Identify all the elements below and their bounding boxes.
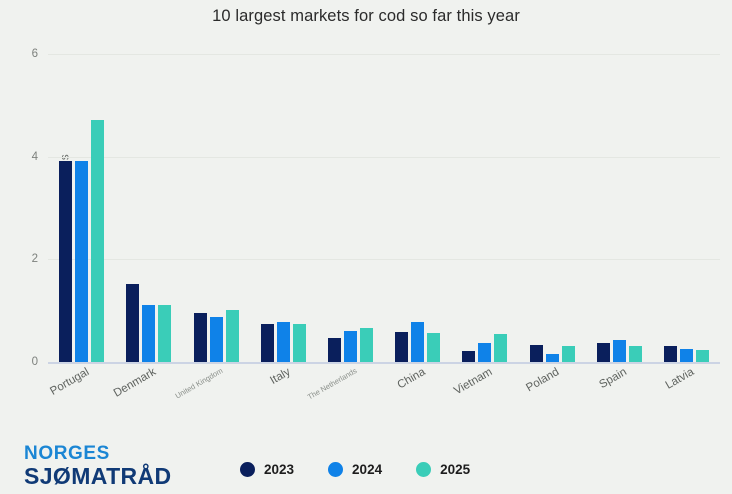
y-axis-tick-label: 6 [32, 48, 38, 60]
bar[interactable] [395, 332, 408, 362]
legend-label: 2025 [440, 462, 470, 477]
bar[interactable] [427, 333, 440, 362]
bar-series-layer [48, 54, 720, 362]
bar[interactable] [293, 324, 306, 363]
bar[interactable] [696, 350, 709, 362]
bar[interactable] [597, 343, 610, 363]
bar[interactable] [344, 331, 357, 362]
bar-cluster [586, 54, 653, 362]
x-axis-label-cell: China [384, 362, 451, 432]
x-axis-label-cell: Poland [518, 362, 585, 432]
x-axis-label-cell: Denmark [115, 362, 182, 432]
bar[interactable] [226, 310, 239, 362]
bar-cluster [48, 54, 115, 362]
bar[interactable] [277, 322, 290, 362]
brand-logo: NORGES SJØMATRÅD [24, 444, 172, 488]
x-axis-label-cell: Italy [250, 362, 317, 432]
bar-cluster [451, 54, 518, 362]
legend-item[interactable]: 2023 [240, 462, 294, 477]
legend-label: 2023 [264, 462, 294, 477]
legend-item[interactable]: 2024 [328, 462, 382, 477]
legend-swatch-circle-icon [416, 462, 431, 477]
bar[interactable] [261, 324, 274, 362]
bar[interactable] [59, 161, 72, 362]
bar[interactable] [613, 340, 626, 362]
bar-cluster [384, 54, 451, 362]
bar[interactable] [328, 338, 341, 362]
bar[interactable] [546, 354, 559, 362]
bar[interactable] [91, 120, 104, 362]
bar-cluster [115, 54, 182, 362]
x-axis-label-cell: The Netherlands [317, 362, 384, 432]
x-axis-tick-label: China [395, 366, 427, 391]
bar[interactable] [478, 343, 491, 362]
bar[interactable] [680, 349, 693, 362]
chart-title: 10 largest markets for cod so far this y… [0, 7, 732, 26]
legend-swatch-circle-icon [240, 462, 255, 477]
bar-cluster [250, 54, 317, 362]
x-axis-label-cell: Portugal [48, 362, 115, 432]
plot-area: Value in NOK billions 0246 [48, 54, 720, 362]
bar[interactable] [142, 305, 155, 362]
bar[interactable] [629, 346, 642, 362]
x-axis-label-cell: Spain [586, 362, 653, 432]
bar[interactable] [126, 284, 139, 362]
y-axis-tick-label: 0 [32, 356, 38, 368]
bar[interactable] [530, 345, 543, 362]
y-axis-tick-label: 2 [32, 253, 38, 265]
x-axis-tick-label: Spain [597, 366, 628, 391]
bar[interactable] [75, 161, 88, 362]
x-axis-label-cell: Vietnam [451, 362, 518, 432]
x-axis-tick-label: Italy [268, 366, 292, 387]
bar[interactable] [194, 313, 207, 362]
chart-legend: 202320242025 [240, 462, 470, 477]
x-axis-tick-label: Vietnam [452, 366, 494, 397]
x-axis-tick-label: Poland [524, 366, 561, 394]
legend-item[interactable]: 2025 [416, 462, 470, 477]
x-axis-tick-label: Portugal [48, 366, 91, 398]
x-axis-tick-label: Latvia [663, 366, 696, 392]
bar-cluster [653, 54, 720, 362]
bar[interactable] [360, 328, 373, 362]
bar[interactable] [494, 334, 507, 362]
bar[interactable] [462, 351, 475, 362]
y-axis-tick-label: 4 [32, 151, 38, 163]
brand-logo-line-sjomatrad: SJØMATRÅD [24, 465, 172, 488]
bar-cluster [518, 54, 585, 362]
bar[interactable] [158, 305, 171, 362]
bar[interactable] [411, 322, 424, 362]
x-axis-label-cell: Latvia [653, 362, 720, 432]
bar[interactable] [210, 317, 223, 362]
brand-logo-line-norges: NORGES [24, 444, 172, 463]
bar[interactable] [562, 346, 575, 362]
x-axis-label-cell: United Kingdom [182, 362, 249, 432]
x-axis-tick-label: Denmark [112, 366, 158, 400]
bar[interactable] [664, 346, 677, 362]
legend-swatch-circle-icon [328, 462, 343, 477]
bar-cluster [317, 54, 384, 362]
bar-cluster [182, 54, 249, 362]
x-axis-labels: PortugalDenmarkUnited KingdomItalyThe Ne… [48, 362, 720, 432]
legend-label: 2024 [352, 462, 382, 477]
